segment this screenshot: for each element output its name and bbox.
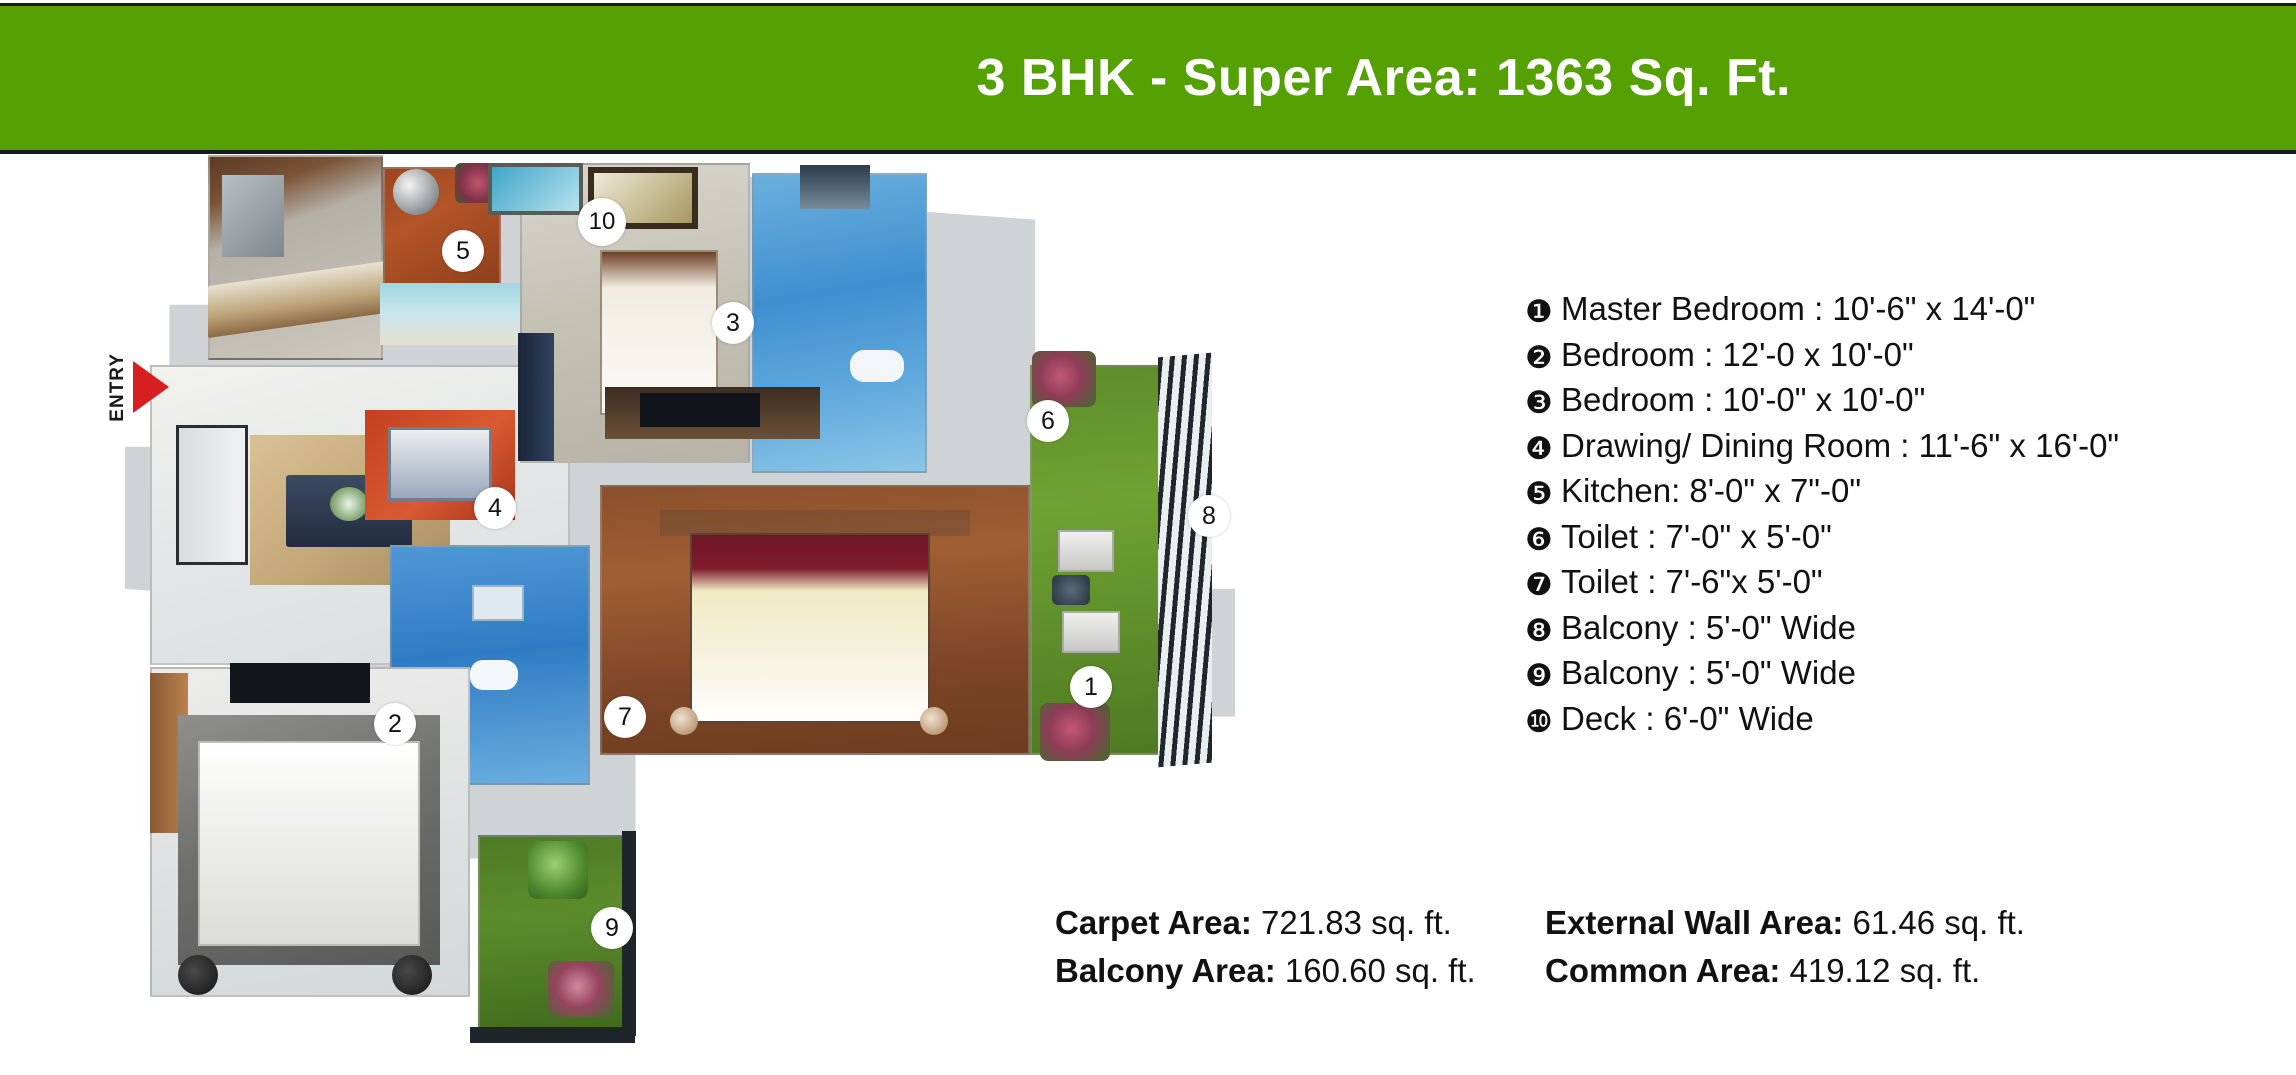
plan-marker-bedroom-2: 2 (374, 703, 416, 745)
bedroom3-wardrobe (518, 333, 554, 461)
common-area-value: 419.12 sq. ft. (1789, 952, 1980, 989)
plan-marker-bedroom-3: 3 (712, 302, 754, 344)
carpet-area-value: 721.83 sq. ft. (1261, 904, 1452, 941)
external-wall-area-value: 61.46 sq. ft. (1853, 904, 2025, 941)
entry-arrow-icon (133, 361, 169, 413)
master-television (640, 393, 760, 427)
bedroom2-side-table-left (178, 955, 218, 995)
bedroom3-wall-art-2 (488, 163, 583, 215)
legend-bullet-icon: ❼ (1525, 569, 1557, 600)
plan-marker-toilet-6: 6 (1027, 400, 1069, 442)
balcony-area-label: Balcony Area: (1055, 952, 1276, 989)
master-bed (690, 533, 930, 723)
plan-marker-balcony-8: 8 (1188, 495, 1230, 537)
header-banner: 3 BHK - Super Area: 1363 Sq. Ft. (0, 3, 2296, 154)
legend-bullet-icon: ❸ (1525, 387, 1557, 418)
legend-item: ❾Balcony : 5'-0" Wide (1525, 656, 2265, 702)
plan-marker-drawing-dining-room: 4 (474, 487, 516, 529)
dining-table (388, 427, 492, 501)
legend-item-label: Kitchen: 8'-0" x 7"-0" (1561, 474, 1861, 507)
washing-machine (393, 169, 439, 215)
legend-item-label: Balcony : 5'-0" Wide (1561, 656, 1856, 689)
plan-marker-balcony-9: 9 (591, 907, 633, 949)
legend-item: ❷Bedroom : 12'-0 x 10'-0" (1525, 338, 2265, 384)
living-plant (330, 487, 368, 521)
toilet7-basin (472, 585, 524, 621)
bedroom2-bed (198, 741, 420, 946)
balcony9-railing-bottom (470, 1027, 635, 1043)
carpet-area-item: Carpet Area: 721.83 sq. ft. (1055, 905, 1545, 941)
legend-item-label: Bedroom : 10'-0" x 10'-0" (1561, 383, 1925, 416)
kitchen-refrigerator (222, 175, 284, 257)
toilet6-fixture (850, 350, 904, 382)
legend-bullet-icon: ❻ (1525, 524, 1557, 555)
legend-item: ❹Drawing/ Dining Room : 11'-6" x 16'-0" (1525, 429, 2265, 475)
toilet7-fixture (470, 660, 518, 690)
master-lamp-left (670, 707, 698, 735)
legend-item-label: Deck : 6'-0" Wide (1561, 702, 1814, 735)
external-wall-area-label: External Wall Area: (1545, 904, 1843, 941)
carpet-area-label: Carpet Area: (1055, 904, 1252, 941)
legend-item-label: Toilet : 7'-6"x 5'-0" (1561, 565, 1823, 598)
bedroom2-side-table-right (392, 955, 432, 995)
legend-bullet-icon: ❾ (1525, 660, 1557, 691)
legend-item: ❿Deck : 6'-0" Wide (1525, 702, 2265, 748)
room-legend: ❶Master Bedroom : 10'-6" x 14'-0"❷Bedroo… (1525, 292, 2265, 747)
legend-bullet-icon: ❷ (1525, 342, 1557, 373)
balcony-area-value: 160.60 sq. ft. (1285, 952, 1476, 989)
toilet6-window (800, 165, 870, 209)
common-area-item: Common Area: 419.12 sq. ft. (1545, 953, 2025, 989)
legend-bullet-icon: ❹ (1525, 433, 1557, 464)
legend-bullet-icon: ❽ (1525, 615, 1557, 646)
balcony-area-item: Balcony Area: 160.60 sq. ft. (1055, 953, 1545, 989)
legend-item: ❽Balcony : 5'-0" Wide (1525, 611, 2265, 657)
entry-label: ENTRY (108, 353, 127, 422)
legend-bullet-icon: ❿ (1525, 706, 1557, 737)
plan-marker-deck: 10 (578, 198, 626, 246)
balcony8-chair-1 (1058, 530, 1114, 572)
plan-marker-master-bedroom: 1 (1070, 666, 1112, 708)
area-summary: Carpet Area: 721.83 sq. ft. External Wal… (1055, 905, 2025, 990)
utility-bath-strip (380, 283, 520, 345)
balcony9-flower-pot (548, 961, 614, 1017)
balcony8-chair-2 (1062, 611, 1120, 653)
legend-item-label: Toilet : 7'-0" x 5'-0" (1561, 520, 1832, 553)
legend-item: ❸Bedroom : 10'-0" x 10'-0" (1525, 383, 2265, 429)
legend-item-label: Bedroom : 12'-0 x 10'-0" (1561, 338, 1914, 371)
balcony8-table (1052, 575, 1090, 605)
living-sofa (176, 425, 248, 565)
legend-item-label: Master Bedroom : 10'-6" x 14'-0" (1561, 292, 2035, 325)
bedroom2-television (230, 663, 370, 703)
page-title: 3 BHK - Super Area: 1363 Sq. Ft. (976, 48, 1791, 108)
legend-bullet-icon: ❶ (1525, 296, 1557, 327)
common-area-label: Common Area: (1545, 952, 1780, 989)
legend-item-label: Drawing/ Dining Room : 11'-6" x 16'-0" (1561, 429, 2119, 462)
legend-item: ❶Master Bedroom : 10'-6" x 14'-0" (1525, 292, 2265, 338)
legend-item: ❻Toilet : 7'-0" x 5'-0" (1525, 520, 2265, 566)
plan-marker-toilet-7: 7 (604, 696, 646, 738)
legend-bullet-icon: ❺ (1525, 478, 1557, 509)
balcony9-shrub (528, 841, 588, 899)
legend-item: ❼Toilet : 7'-6"x 5'-0" (1525, 565, 2265, 611)
balcony8-flower-pot-top (1032, 351, 1096, 407)
master-lamp-right (920, 707, 948, 735)
entry-marker: ENTRY (108, 353, 169, 422)
plan-marker-kitchen: 5 (442, 230, 484, 272)
legend-item-label: Balcony : 5'-0" Wide (1561, 611, 1856, 644)
legend-item: ❺Kitchen: 8'-0" x 7"-0" (1525, 474, 2265, 520)
balcony8-railing (1158, 353, 1212, 768)
balcony8-flower-pot-bottom (1040, 703, 1110, 761)
external-wall-area-item: External Wall Area: 61.46 sq. ft. (1545, 905, 2025, 941)
